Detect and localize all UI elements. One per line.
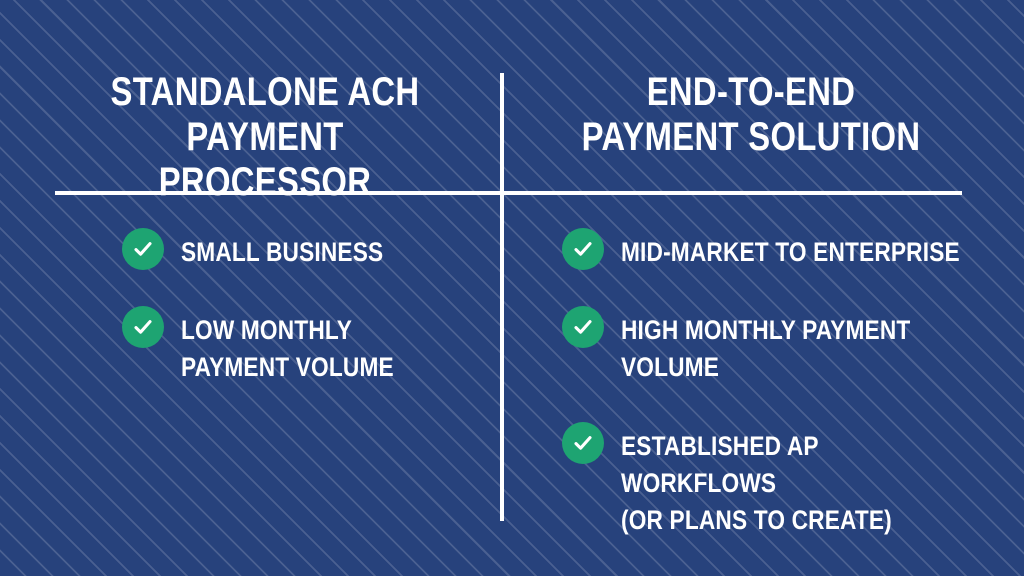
list-item-label: MID-MARKET TO ENTERPRISE <box>621 234 960 271</box>
column-left-heading: STANDALONE ACH PAYMENT PROCESSOR <box>81 70 450 205</box>
list-item: HIGH MONTHLY PAYMENT VOLUME <box>562 312 966 386</box>
list-item: LOW MONTHLY PAYMENT VOLUME <box>122 312 434 386</box>
list-item-label: SMALL BUSINESS <box>181 234 383 271</box>
check-circle-icon <box>562 422 604 464</box>
list-item: SMALL BUSINESS <box>122 234 422 271</box>
check-circle-icon <box>562 228 604 270</box>
column-end-to-end-payment-solution: END-TO-END PAYMENT SOLUTION MID-MARKET T… <box>516 0 986 576</box>
list-item-label: ESTABLISHED AP WORKFLOWS (OR PLANS TO CR… <box>621 428 966 539</box>
list-item-label: LOW MONTHLY PAYMENT VOLUME <box>181 312 394 386</box>
check-circle-icon <box>562 306 604 348</box>
list-item: MID-MARKET TO ENTERPRISE <box>562 234 1024 271</box>
list-item-label: HIGH MONTHLY PAYMENT VOLUME <box>621 312 910 386</box>
check-circle-icon <box>122 306 164 348</box>
check-circle-icon <box>122 228 164 270</box>
vertical-divider-rule <box>500 73 504 521</box>
list-item: ESTABLISHED AP WORKFLOWS (OR PLANS TO CR… <box>562 428 1024 539</box>
column-standalone-ach-payment-processor: STANDALONE ACH PAYMENT PROCESSOR SMALL B… <box>40 0 490 576</box>
column-right-heading: END-TO-END PAYMENT SOLUTION <box>558 70 943 160</box>
comparison-slide: STANDALONE ACH PAYMENT PROCESSOR SMALL B… <box>0 0 1024 576</box>
